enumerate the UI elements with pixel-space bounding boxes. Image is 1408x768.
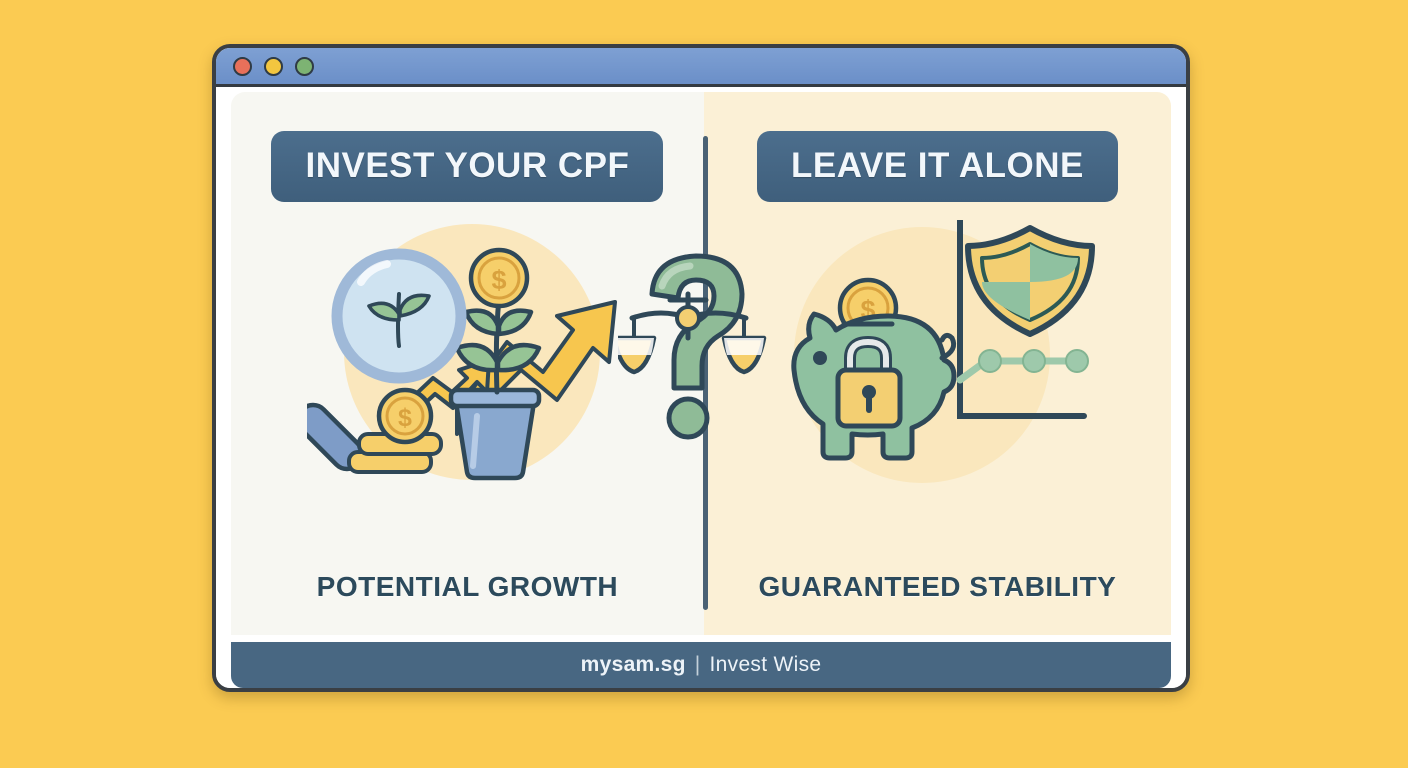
headline-leave-it-alone[interactable]: LEAVE IT ALONE (757, 131, 1118, 202)
window-title-bar (216, 48, 1186, 87)
footer-bar: mysam.sg | Invest Wise (231, 642, 1171, 688)
potted-plant-icon (451, 390, 539, 478)
svg-text:$: $ (398, 404, 412, 432)
close-button[interactable] (233, 57, 252, 76)
comparison-content: INVEST YOUR CPF (231, 92, 1171, 635)
minimize-button[interactable] (264, 57, 283, 76)
coin-icon: $ (471, 250, 527, 306)
maximize-button[interactable] (295, 57, 314, 76)
question-scales-illustration (618, 242, 788, 462)
footer-spacer (231, 635, 1171, 642)
growth-illustration-svg: $ (307, 220, 627, 485)
footer-brand: mysam.sg (581, 653, 686, 677)
caption-potential-growth: POTENTIAL GROWTH (231, 571, 704, 603)
stability-illustration-svg: $ (772, 220, 1102, 485)
window-body: INVEST YOUR CPF (216, 87, 1186, 688)
caption-guaranteed-stability: GUARANTEED STABILITY (704, 571, 1171, 603)
headline-right-wrap: LEAVE IT ALONE (704, 131, 1171, 202)
footer-tagline: Invest Wise (710, 653, 822, 677)
headline-left-wrap: INVEST YOUR CPF (231, 131, 704, 202)
headline-invest-your-cpf[interactable]: INVEST YOUR CPF (271, 131, 663, 202)
question-scales-svg (618, 242, 788, 457)
browser-window: INVEST YOUR CPF (212, 44, 1190, 692)
svg-text:$: $ (492, 265, 507, 295)
footer-separator: | (695, 653, 701, 677)
